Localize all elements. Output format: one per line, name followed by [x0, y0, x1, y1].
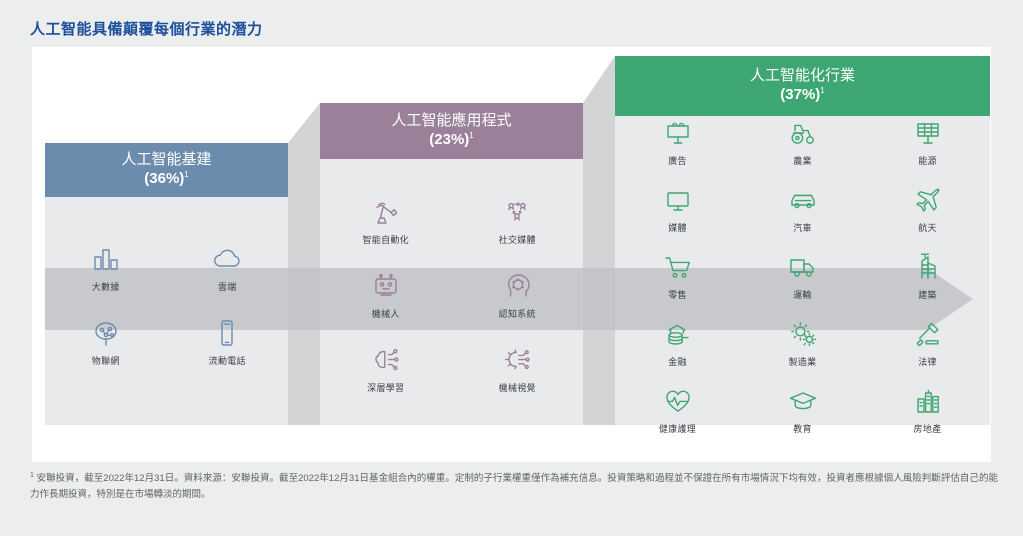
icon-label: 製造業	[789, 355, 817, 368]
icon-cell: 大數據	[63, 243, 149, 293]
icon-cell: 零售	[635, 251, 721, 301]
monitor-icon	[661, 184, 695, 216]
footnote-text: 安聯投資，截至2022年12月31日。資料來源：安聯投資。截至2022年12月3…	[30, 473, 998, 500]
icon-label: 金融	[668, 355, 687, 368]
icon-grid-1: 大數據雲端物聯網流動電話	[45, 243, 288, 367]
icon-grid-3: 廣告農業能源媒體汽車航天零售運輸建築金融製造業法律健康護理教育房地產	[615, 117, 990, 435]
infographic-root: 人工智能具備顛覆每個行業的潛力 人工智能基建 (36%)1 人工智能應用程式 (…	[0, 0, 1023, 536]
icon-label: 機械視覺	[499, 381, 536, 394]
icon-label: 媒體	[668, 221, 687, 234]
car-icon	[786, 184, 820, 216]
head-gear-icon	[500, 270, 534, 302]
icon-cell: 建築	[885, 251, 971, 301]
footnote: 1 安聯投資，截至2022年12月31日。資料來源：安聯投資。截至2022年12…	[30, 470, 998, 503]
tractor-icon	[786, 117, 820, 149]
icon-label: 流動電話	[209, 354, 246, 367]
brain-circuit-icon	[369, 344, 403, 376]
graduation-cap-icon	[786, 385, 820, 417]
icon-label: 能源	[918, 154, 937, 167]
panel-footnote-marker-3: 1	[820, 86, 824, 95]
panel-percent-3: (37%)1	[780, 86, 824, 105]
icon-cell: 製造業	[760, 318, 846, 368]
icon-label: 雲端	[218, 280, 237, 293]
icon-cell: 汽車	[760, 184, 846, 234]
panel-percent-2: (23%)1	[429, 131, 473, 150]
icon-grid-2: 智能自動化社交媒體機械人認知系統深層學習機械視覺	[320, 196, 583, 394]
icon-label: 認知系統	[499, 307, 536, 320]
icon-cell: 智能自動化	[343, 196, 429, 246]
icon-cell: 流動電話	[184, 317, 270, 367]
panel-footnote-marker-2: 1	[469, 131, 473, 140]
panel-title-2: 人工智能應用程式	[391, 112, 511, 131]
icon-cell: 機械人	[343, 270, 429, 320]
step-connector-1	[288, 103, 320, 425]
gear-circuit-icon	[500, 344, 534, 376]
icon-cell: 雲端	[184, 243, 270, 293]
panel-footnote-marker-1: 1	[184, 170, 188, 179]
icon-cell: 運輸	[760, 251, 846, 301]
icon-label: 物聯網	[92, 354, 120, 367]
robot-face-icon	[369, 270, 403, 302]
icon-label: 零售	[668, 288, 687, 301]
icon-label: 大數據	[92, 280, 120, 293]
icon-label: 智能自動化	[362, 233, 409, 246]
heart-pulse-icon	[661, 385, 695, 417]
icon-cell: 認知系統	[474, 270, 560, 320]
icon-label: 廣告	[668, 154, 687, 167]
shopping-cart-icon	[661, 251, 695, 283]
panel-title-3: 人工智能化行業	[750, 67, 855, 86]
construction-icon	[911, 251, 945, 283]
icon-cell: 法律	[885, 318, 971, 368]
icon-label: 農業	[793, 154, 812, 167]
icon-label: 法律	[918, 355, 937, 368]
cloud-icon	[210, 243, 244, 275]
icon-label: 建築	[918, 288, 937, 301]
icon-cell: 媒體	[635, 184, 721, 234]
solar-panel-icon	[911, 117, 945, 149]
robot-arm-icon	[369, 196, 403, 228]
icon-label: 汽車	[793, 221, 812, 234]
icon-cell: 廣告	[635, 117, 721, 167]
icon-cell: 深層學習	[343, 344, 429, 394]
truck-icon	[786, 251, 820, 283]
icon-cell: 物聯網	[63, 317, 149, 367]
icon-label: 航天	[918, 221, 937, 234]
icon-label: 深層學習	[367, 381, 404, 394]
icon-cell: 教育	[760, 385, 846, 435]
panel-percent-1: (36%)1	[144, 170, 188, 189]
panel-header-3: 人工智能化行業 (37%)1	[615, 56, 990, 116]
gavel-icon	[911, 318, 945, 350]
page-title: 人工智能具備顛覆每個行業的潛力	[30, 18, 263, 39]
icon-cell: 能源	[885, 117, 971, 167]
icon-cell: 航天	[885, 184, 971, 234]
icon-cell: 健康護理	[635, 385, 721, 435]
step-connector-2	[583, 56, 615, 425]
icon-label: 教育	[793, 422, 812, 435]
panel-header-1: 人工智能基建 (36%)1	[45, 143, 288, 197]
icon-label: 健康護理	[659, 422, 696, 435]
icon-cell: 金融	[635, 318, 721, 368]
icon-label: 房地產	[914, 422, 942, 435]
icon-label: 社交媒體	[499, 233, 536, 246]
bar-chart-icon	[89, 243, 123, 275]
icon-label: 運輸	[793, 288, 812, 301]
airplane-icon	[911, 184, 945, 216]
icon-label: 機械人	[372, 307, 400, 320]
panel-header-2: 人工智能應用程式 (23%)1	[320, 103, 583, 159]
social-network-icon	[500, 196, 534, 228]
bank-coins-icon	[661, 318, 695, 350]
billboard-icon	[661, 117, 695, 149]
icon-cell: 農業	[760, 117, 846, 167]
icon-cell: 房地產	[885, 385, 971, 435]
city-buildings-icon	[911, 385, 945, 417]
icon-cell: 機械視覺	[474, 344, 560, 394]
iot-network-icon	[89, 317, 123, 349]
panel-title-1: 人工智能基建	[121, 151, 211, 170]
gears-icon	[786, 318, 820, 350]
icon-cell: 社交媒體	[474, 196, 560, 246]
mobile-phone-icon	[210, 317, 244, 349]
